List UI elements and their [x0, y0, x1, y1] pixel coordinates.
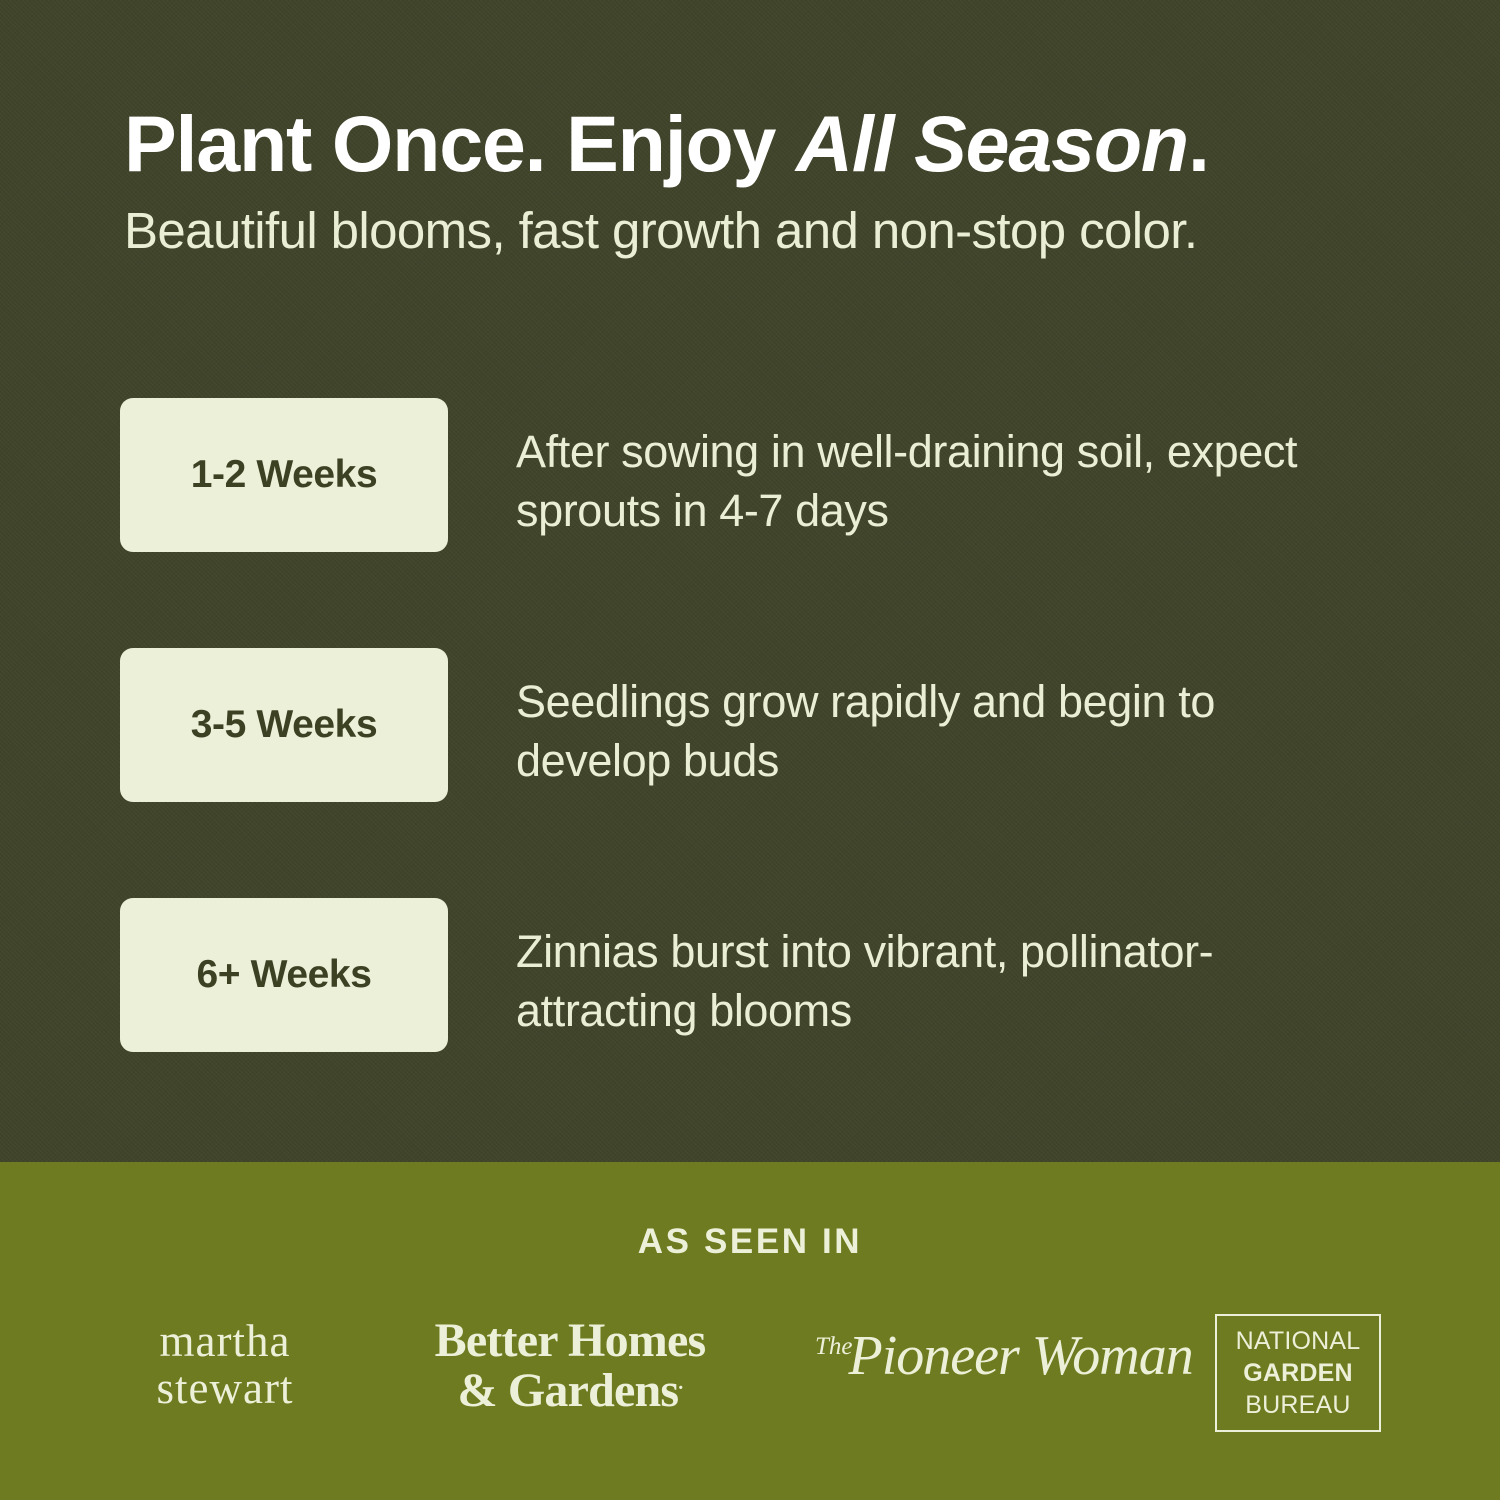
stage-description-2: Seedlings grow rapidly and begin to deve… — [448, 648, 1380, 791]
martha-stewart-logo: martha stewart — [110, 1318, 340, 1413]
stage-badge-2: 3-5 Weeks — [120, 648, 448, 802]
page-title: Plant Once. Enjoy All Season. — [124, 104, 1404, 185]
martha-stewart-logo-line2: stewart — [110, 1365, 340, 1412]
as-seen-in-heading: AS SEEN IN — [0, 1222, 1500, 1262]
better-homes-gardens-logo-mark: . — [678, 1372, 682, 1394]
national-garden-bureau-logo-line3: BUREAU — [1245, 1389, 1350, 1421]
header-block: Plant Once. Enjoy All Season. Beautiful … — [124, 104, 1404, 258]
stage-badge-3: 6+ Weeks — [120, 898, 448, 1052]
timeline-row: 6+ Weeks Zinnias burst into vibrant, pol… — [120, 898, 1380, 1052]
stage-description-3: Zinnias burst into vibrant, pollinator-a… — [448, 898, 1380, 1041]
timeline-row: 1-2 Weeks After sowing in well-draining … — [120, 398, 1380, 552]
better-homes-gardens-logo-line1: Better Homes — [415, 1316, 725, 1366]
better-homes-gardens-logo-line2: & Gardens. — [415, 1366, 725, 1416]
national-garden-bureau-logo-line2: GARDEN — [1243, 1357, 1353, 1389]
headline-tail-text: . — [1188, 99, 1209, 188]
infographic-root: Plant Once. Enjoy All Season. Beautiful … — [0, 0, 1500, 1500]
better-homes-gardens-logo-line2-text: & Gardens — [457, 1364, 678, 1417]
page-subtitle: Beautiful blooms, fast growth and non-st… — [124, 203, 1404, 258]
stage-badge-1: 1-2 Weeks — [120, 398, 448, 552]
headline-emphasis-text: All Season — [796, 99, 1188, 188]
headline-lead-text: Plant Once. Enjoy — [124, 99, 796, 188]
growth-timeline-list: 1-2 Weeks After sowing in well-draining … — [120, 398, 1380, 1052]
pioneer-woman-logo: ThePioneer Woman — [815, 1328, 1145, 1384]
pioneer-woman-logo-prefix: The — [815, 1333, 853, 1360]
pioneer-woman-logo-line1: Pioneer Woman — [849, 1325, 1193, 1387]
press-logo-row: martha stewart Better Homes & Gardens. T… — [0, 1300, 1500, 1450]
national-garden-bureau-logo: NATIONAL GARDEN BUREAU — [1215, 1314, 1381, 1432]
national-garden-bureau-logo-line1: NATIONAL — [1236, 1325, 1361, 1357]
better-homes-gardens-logo: Better Homes & Gardens. — [415, 1316, 725, 1416]
martha-stewart-logo-line1: martha — [110, 1318, 340, 1365]
timeline-row: 3-5 Weeks Seedlings grow rapidly and beg… — [120, 648, 1380, 802]
stage-description-1: After sowing in well-draining soil, expe… — [448, 398, 1380, 541]
